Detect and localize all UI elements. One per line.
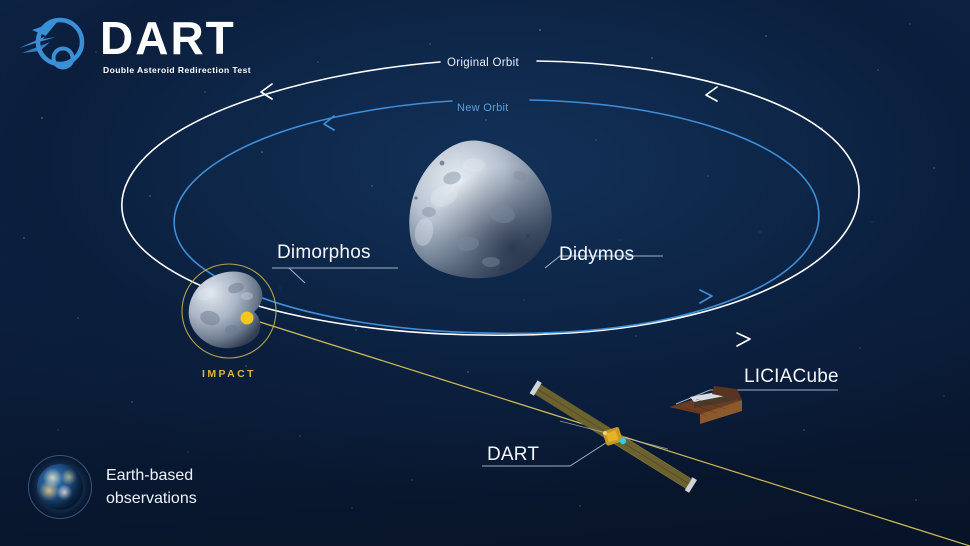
- earth-globe-icon: [37, 464, 83, 510]
- orbit-arrow-top-left-icon: [261, 84, 272, 99]
- impact-highlight-circle: [182, 264, 276, 358]
- dart-mission-infographic: DART Double Asteroid Redirection Test: [0, 0, 970, 546]
- dart-spacecraft-icon: [530, 380, 697, 492]
- dimorphos-leader-line: [272, 268, 305, 283]
- dimorphos-label: Dimorphos: [277, 242, 371, 264]
- liciacube-label: LICIACube: [744, 366, 839, 388]
- orbit-arrow-bottom-right-icon: [737, 333, 750, 346]
- new-orbit-arrow-bottom-right-icon: [700, 290, 712, 303]
- dimorphos-asteroid: [182, 264, 276, 358]
- dart-comet-asteroid-icon: [16, 14, 90, 76]
- earth-label-line2: observations: [106, 487, 197, 510]
- liciacube-leader-line: [676, 390, 838, 404]
- dart-approach-trajectory: [247, 318, 970, 546]
- new-orbit-arrow-top-left-icon: [324, 116, 334, 130]
- didymos-label: Didymos: [559, 244, 634, 266]
- orbit-arrow-top-right-icon: [706, 87, 717, 101]
- didymos-asteroid: [409, 140, 551, 278]
- original-orbit-label: Original Orbit: [447, 57, 519, 69]
- impact-point-icon: [241, 312, 254, 325]
- dart-logo: DART Double Asteroid Redirection Test: [16, 14, 251, 76]
- earth-based-observations: Earth-based observations: [28, 455, 197, 519]
- liciacube-cubesat-icon: [669, 386, 742, 424]
- new-orbit-path: [174, 100, 819, 333]
- earth-icon-ring: [28, 455, 92, 519]
- earth-observations-label: Earth-based observations: [106, 464, 197, 510]
- earth-label-line1: Earth-based: [106, 464, 197, 487]
- dart-label: DART: [487, 444, 539, 466]
- logo-wordmark: DART: [100, 15, 251, 61]
- new-orbit-label: New Orbit: [457, 102, 509, 114]
- impact-label: IMPACT: [202, 368, 256, 380]
- logo-tagline: Double Asteroid Redirection Test: [103, 66, 251, 75]
